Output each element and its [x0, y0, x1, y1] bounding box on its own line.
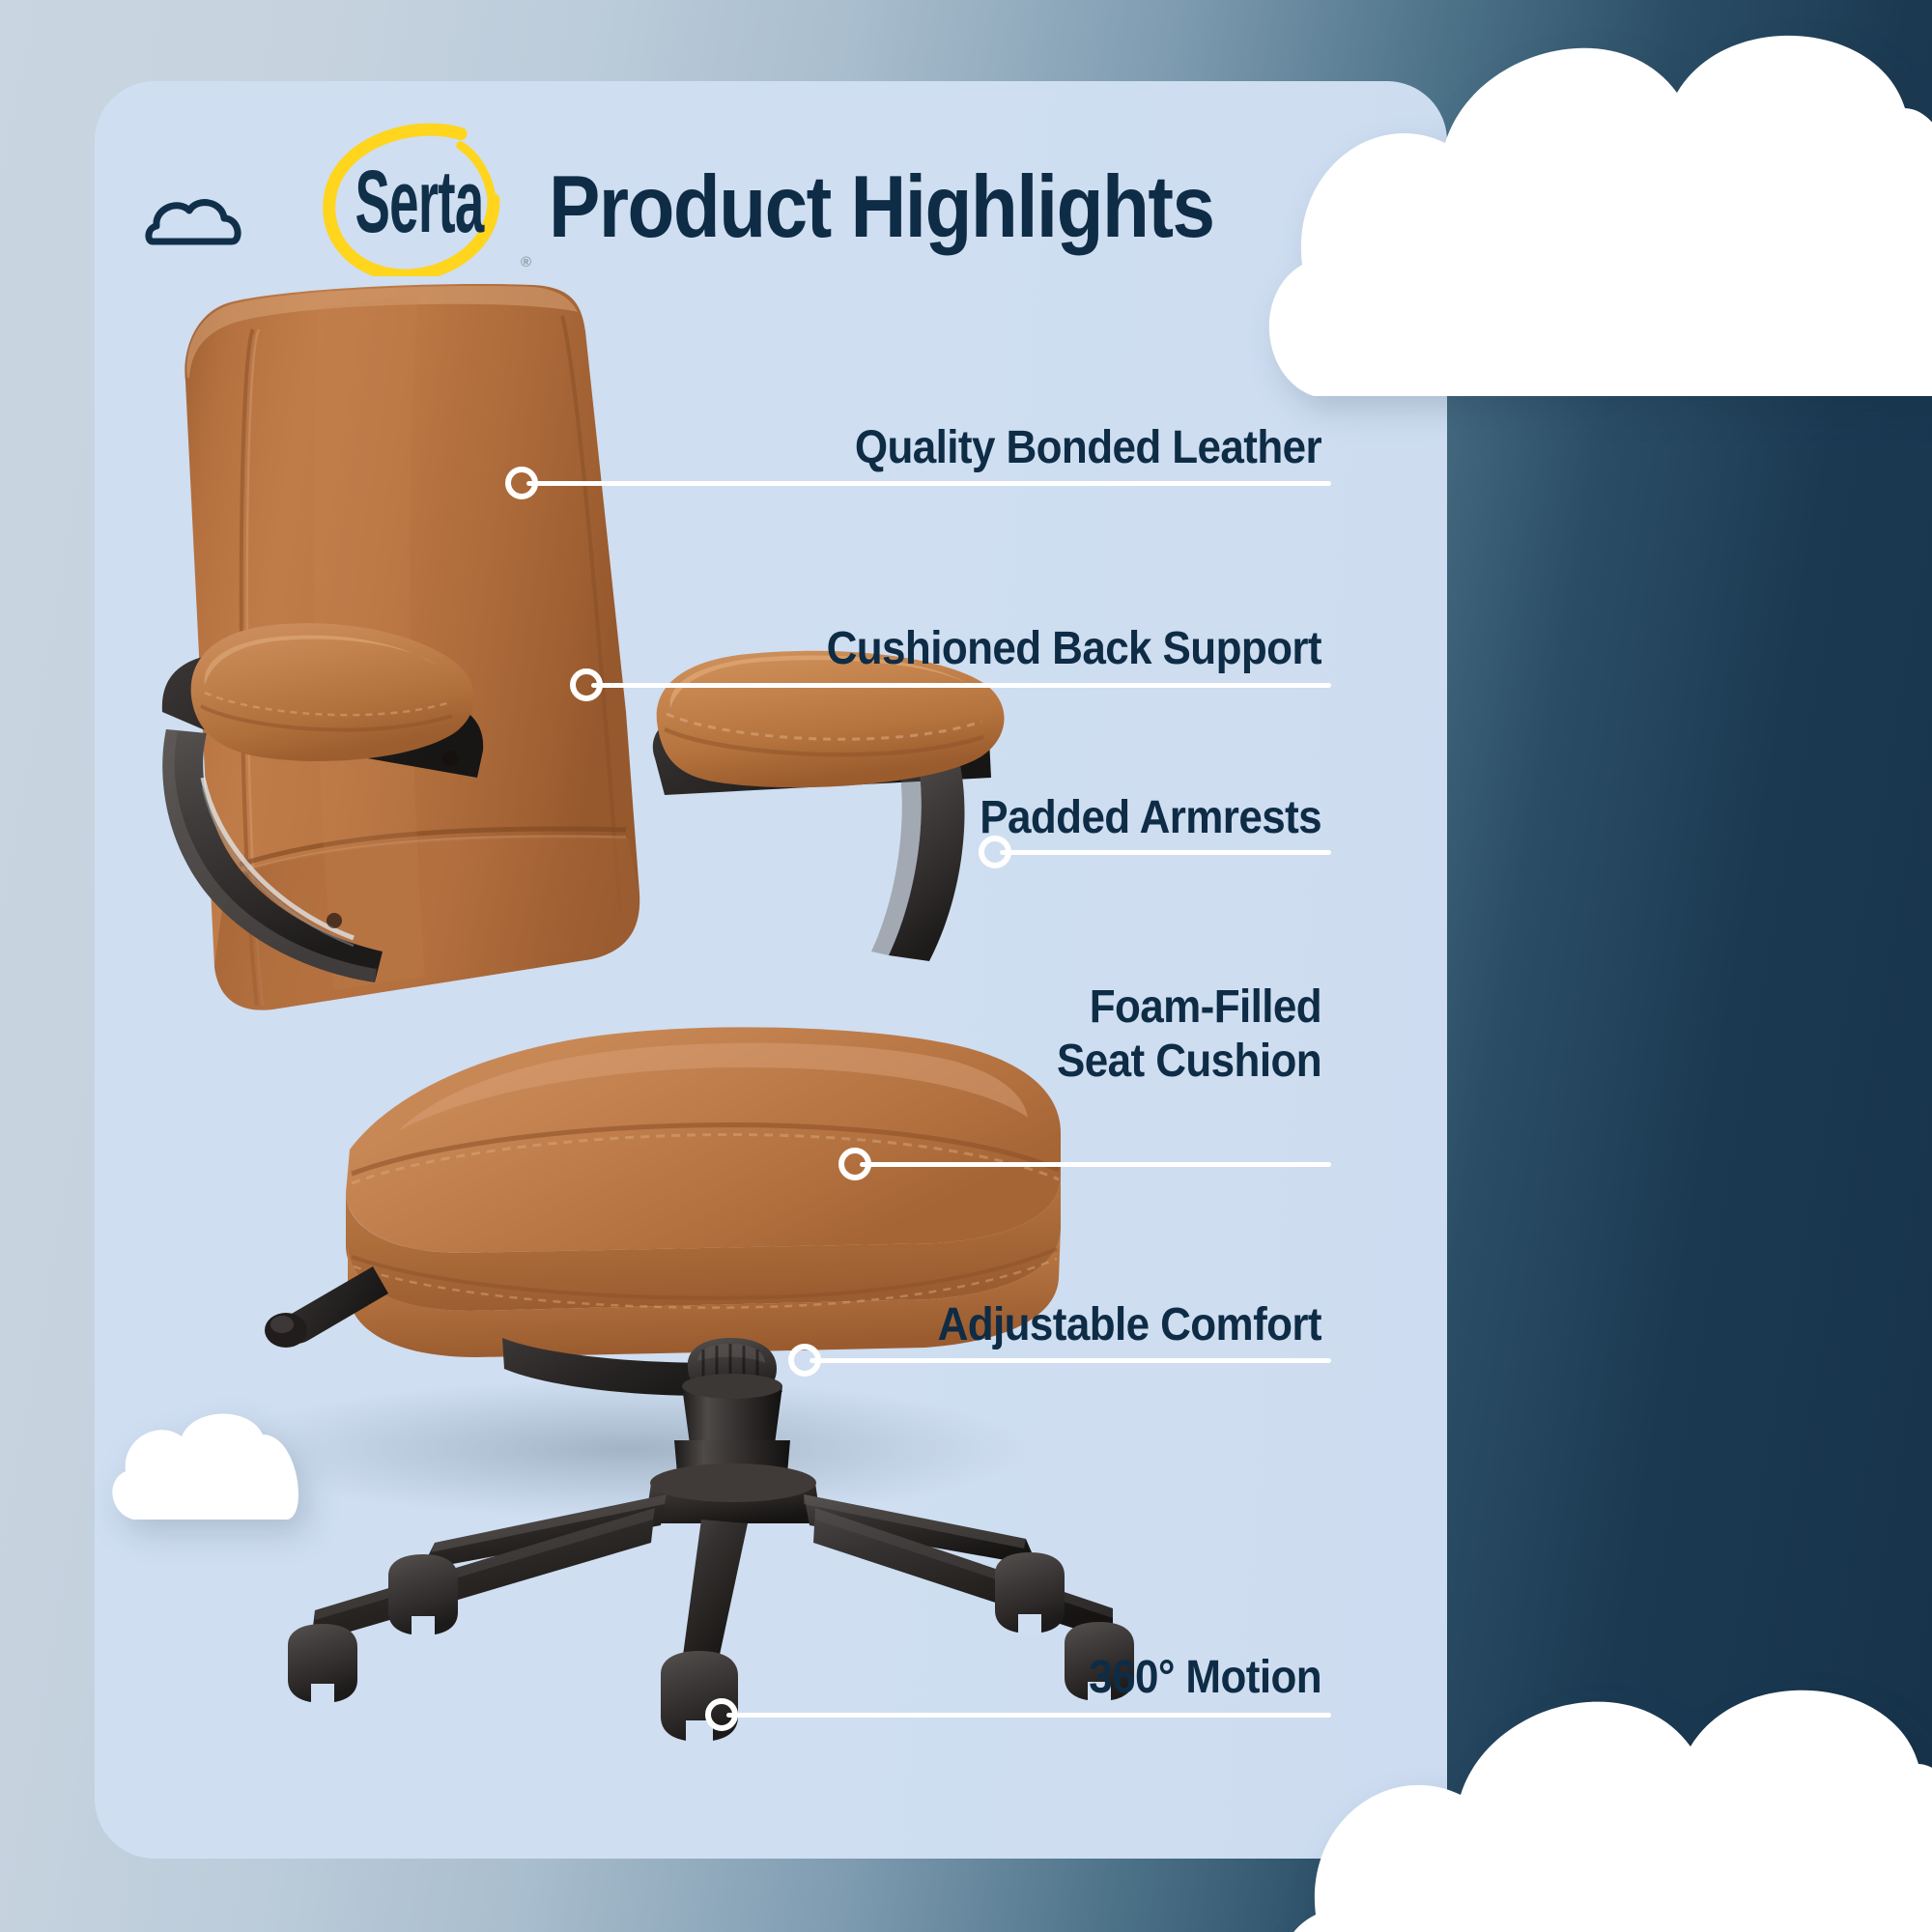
- callout-line-padded-armrests: [1000, 850, 1331, 855]
- callout-label-line-1: Foam-Filled: [1057, 980, 1321, 1034]
- cloud-outline-icon: [145, 189, 251, 249]
- callout-label-padded-armrests: Padded Armrests: [980, 790, 1321, 844]
- serta-wordmark: Serta: [353, 153, 485, 248]
- callout-label-line-2: Seat Cushion: [1057, 1034, 1321, 1088]
- callout-line-cushioned-back-support: [591, 683, 1331, 688]
- callout-line-foam-filled-seat-cushion: [860, 1162, 1331, 1167]
- cloud-top-right: [1256, 0, 1932, 398]
- header: Serta ® Product Highlights: [145, 116, 1285, 280]
- callout-marker-foam-filled-seat-cushion: [838, 1148, 871, 1180]
- callout-label-adjustable-comfort: Adjustable Comfort: [938, 1297, 1321, 1351]
- cloud-bottom-left: [104, 1406, 319, 1525]
- callout-marker-adjustable-comfort: [788, 1344, 821, 1377]
- callout-marker-padded-armrests: [979, 836, 1011, 868]
- callout-label-quality-bonded-leather: Quality Bonded Leather: [855, 420, 1321, 474]
- serta-logo: Serta ®: [307, 122, 529, 276]
- callout-label-cushioned-back-support: Cushioned Back Support: [827, 621, 1321, 675]
- page-title: Product Highlights: [549, 156, 1214, 258]
- callout-line-adjustable-comfort: [810, 1358, 1331, 1363]
- callout-marker-360-motion: [705, 1698, 738, 1731]
- callout-line-quality-bonded-leather: [526, 481, 1331, 486]
- callout-marker-cushioned-back-support: [570, 668, 603, 701]
- callout-label-foam-filled-seat-cushion: Foam-Filled Seat Cushion: [1057, 980, 1321, 1088]
- registered-mark: ®: [521, 254, 531, 270]
- cloud-bottom-right: [1265, 1652, 1932, 1932]
- callout-marker-quality-bonded-leather: [505, 467, 538, 499]
- callout-line-360-motion: [726, 1713, 1331, 1718]
